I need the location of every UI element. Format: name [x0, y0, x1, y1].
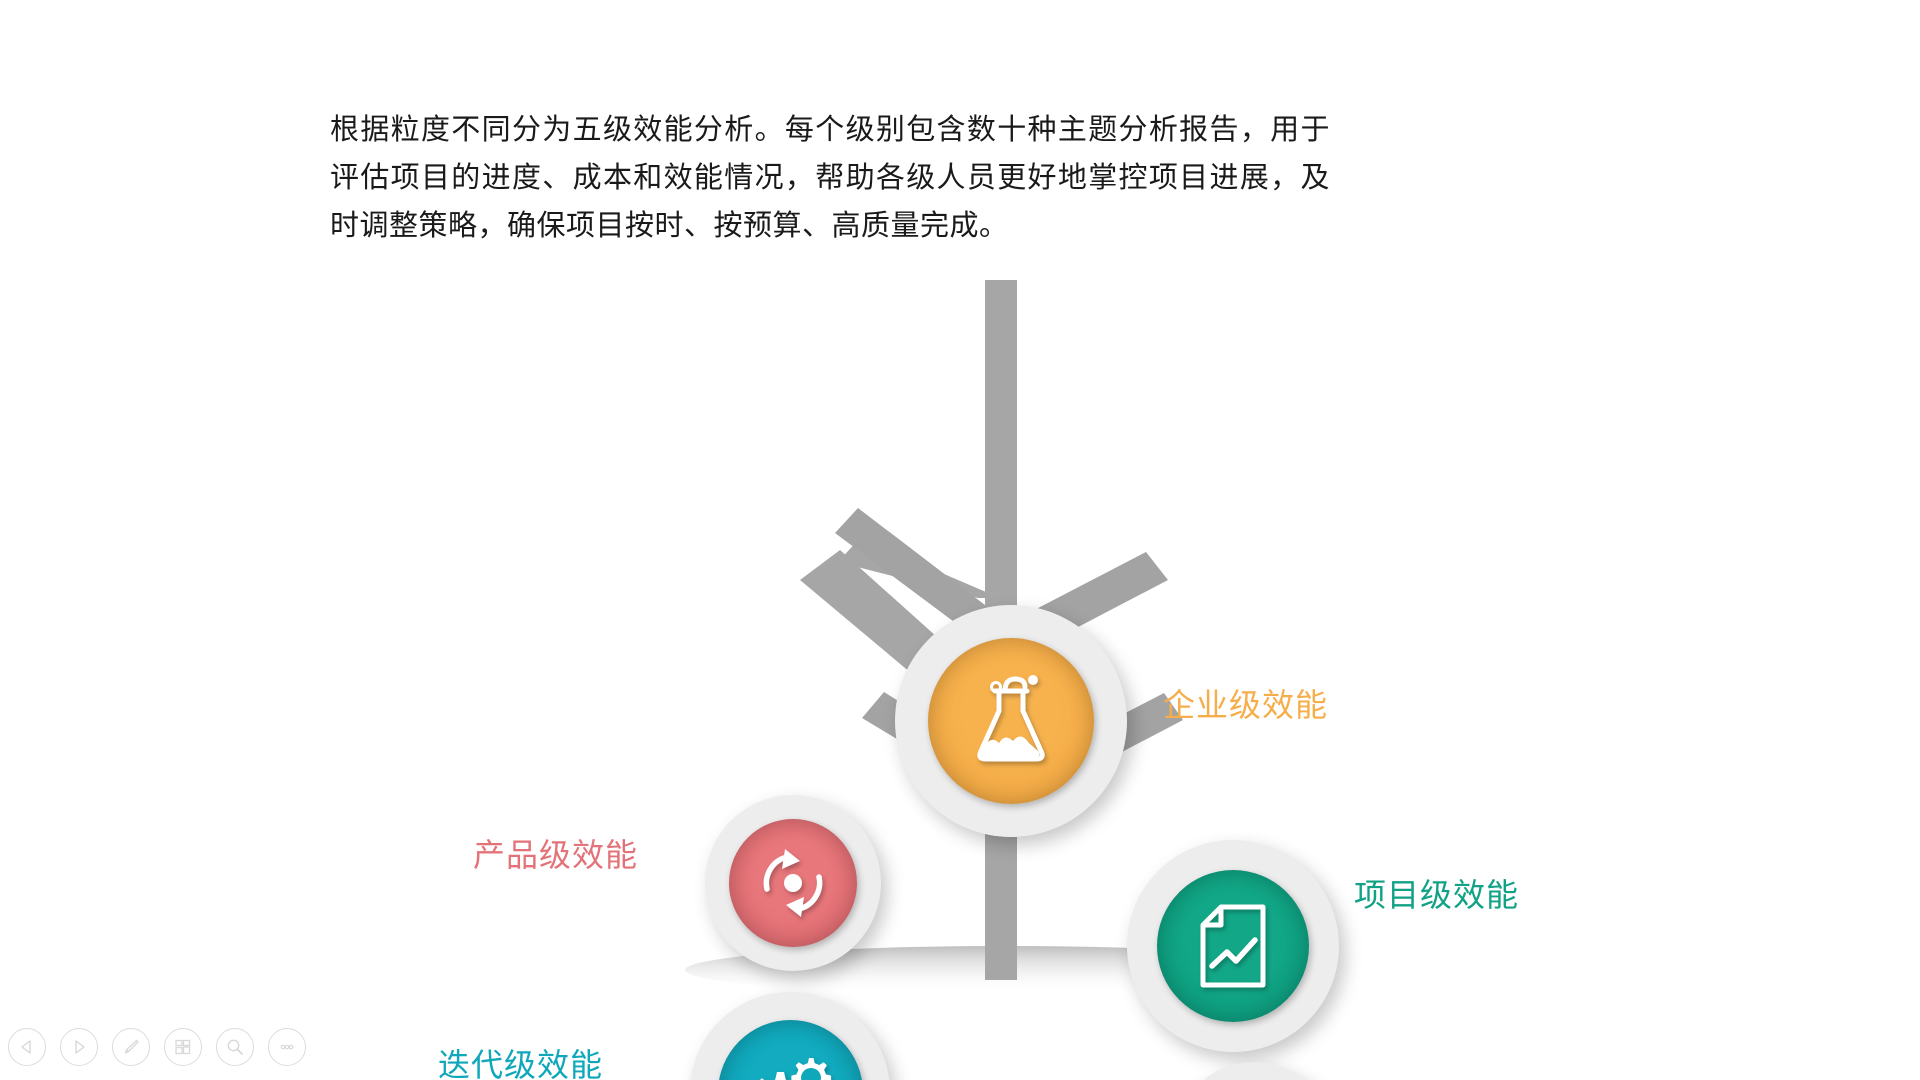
pen-tool-button[interactable]: [112, 1028, 150, 1066]
node-product-inner: [729, 819, 857, 947]
magnifier-icon: [225, 1037, 245, 1057]
slide-overview-button[interactable]: [164, 1028, 202, 1066]
node-label-product: 产品级效能: [473, 830, 638, 876]
slides-grid-icon: [173, 1037, 193, 1057]
node-project-inner: [1157, 870, 1309, 1022]
node-label-project: 项目级效能: [1354, 870, 1519, 916]
pen-icon: [121, 1037, 141, 1057]
more-options-button[interactable]: [268, 1028, 306, 1066]
tree-diagram: 企业级效能 产品级效能 项目级效能 迭代级效能 个人效能: [0, 280, 1920, 1020]
triangle-right-icon: [71, 1039, 87, 1055]
triangle-left-icon: [19, 1039, 35, 1055]
previous-slide-button[interactable]: [8, 1028, 46, 1066]
node-label-enterprise: 企业级效能: [1163, 680, 1328, 726]
node-enterprise-inner: [928, 638, 1094, 804]
node-label-personal: 个人效能: [1305, 1075, 1437, 1080]
document-chart-icon: [1195, 902, 1271, 990]
refresh-cycle-icon: [754, 844, 832, 922]
ellipsis-icon: [277, 1037, 297, 1057]
node-label-iteration: 迭代级效能: [438, 1040, 603, 1080]
presentation-toolbar: [8, 1028, 306, 1066]
next-slide-button[interactable]: [60, 1028, 98, 1066]
presentation-slide: 根据粒度不同分为五级效能分析。每个级别包含数十种主题分析报告，用于评估项目的进度…: [0, 0, 1920, 1080]
node-enterprise[interactable]: [895, 605, 1127, 837]
node-product[interactable]: [705, 795, 881, 971]
node-iteration-inner: [718, 1020, 863, 1080]
intro-paragraph: 根据粒度不同分为五级效能分析。每个级别包含数十种主题分析报告，用于评估项目的进度…: [330, 105, 1330, 249]
gears-icon: [747, 1052, 833, 1080]
zoom-button[interactable]: [216, 1028, 254, 1066]
flask-icon: [969, 673, 1053, 769]
node-project[interactable]: [1127, 840, 1339, 1052]
